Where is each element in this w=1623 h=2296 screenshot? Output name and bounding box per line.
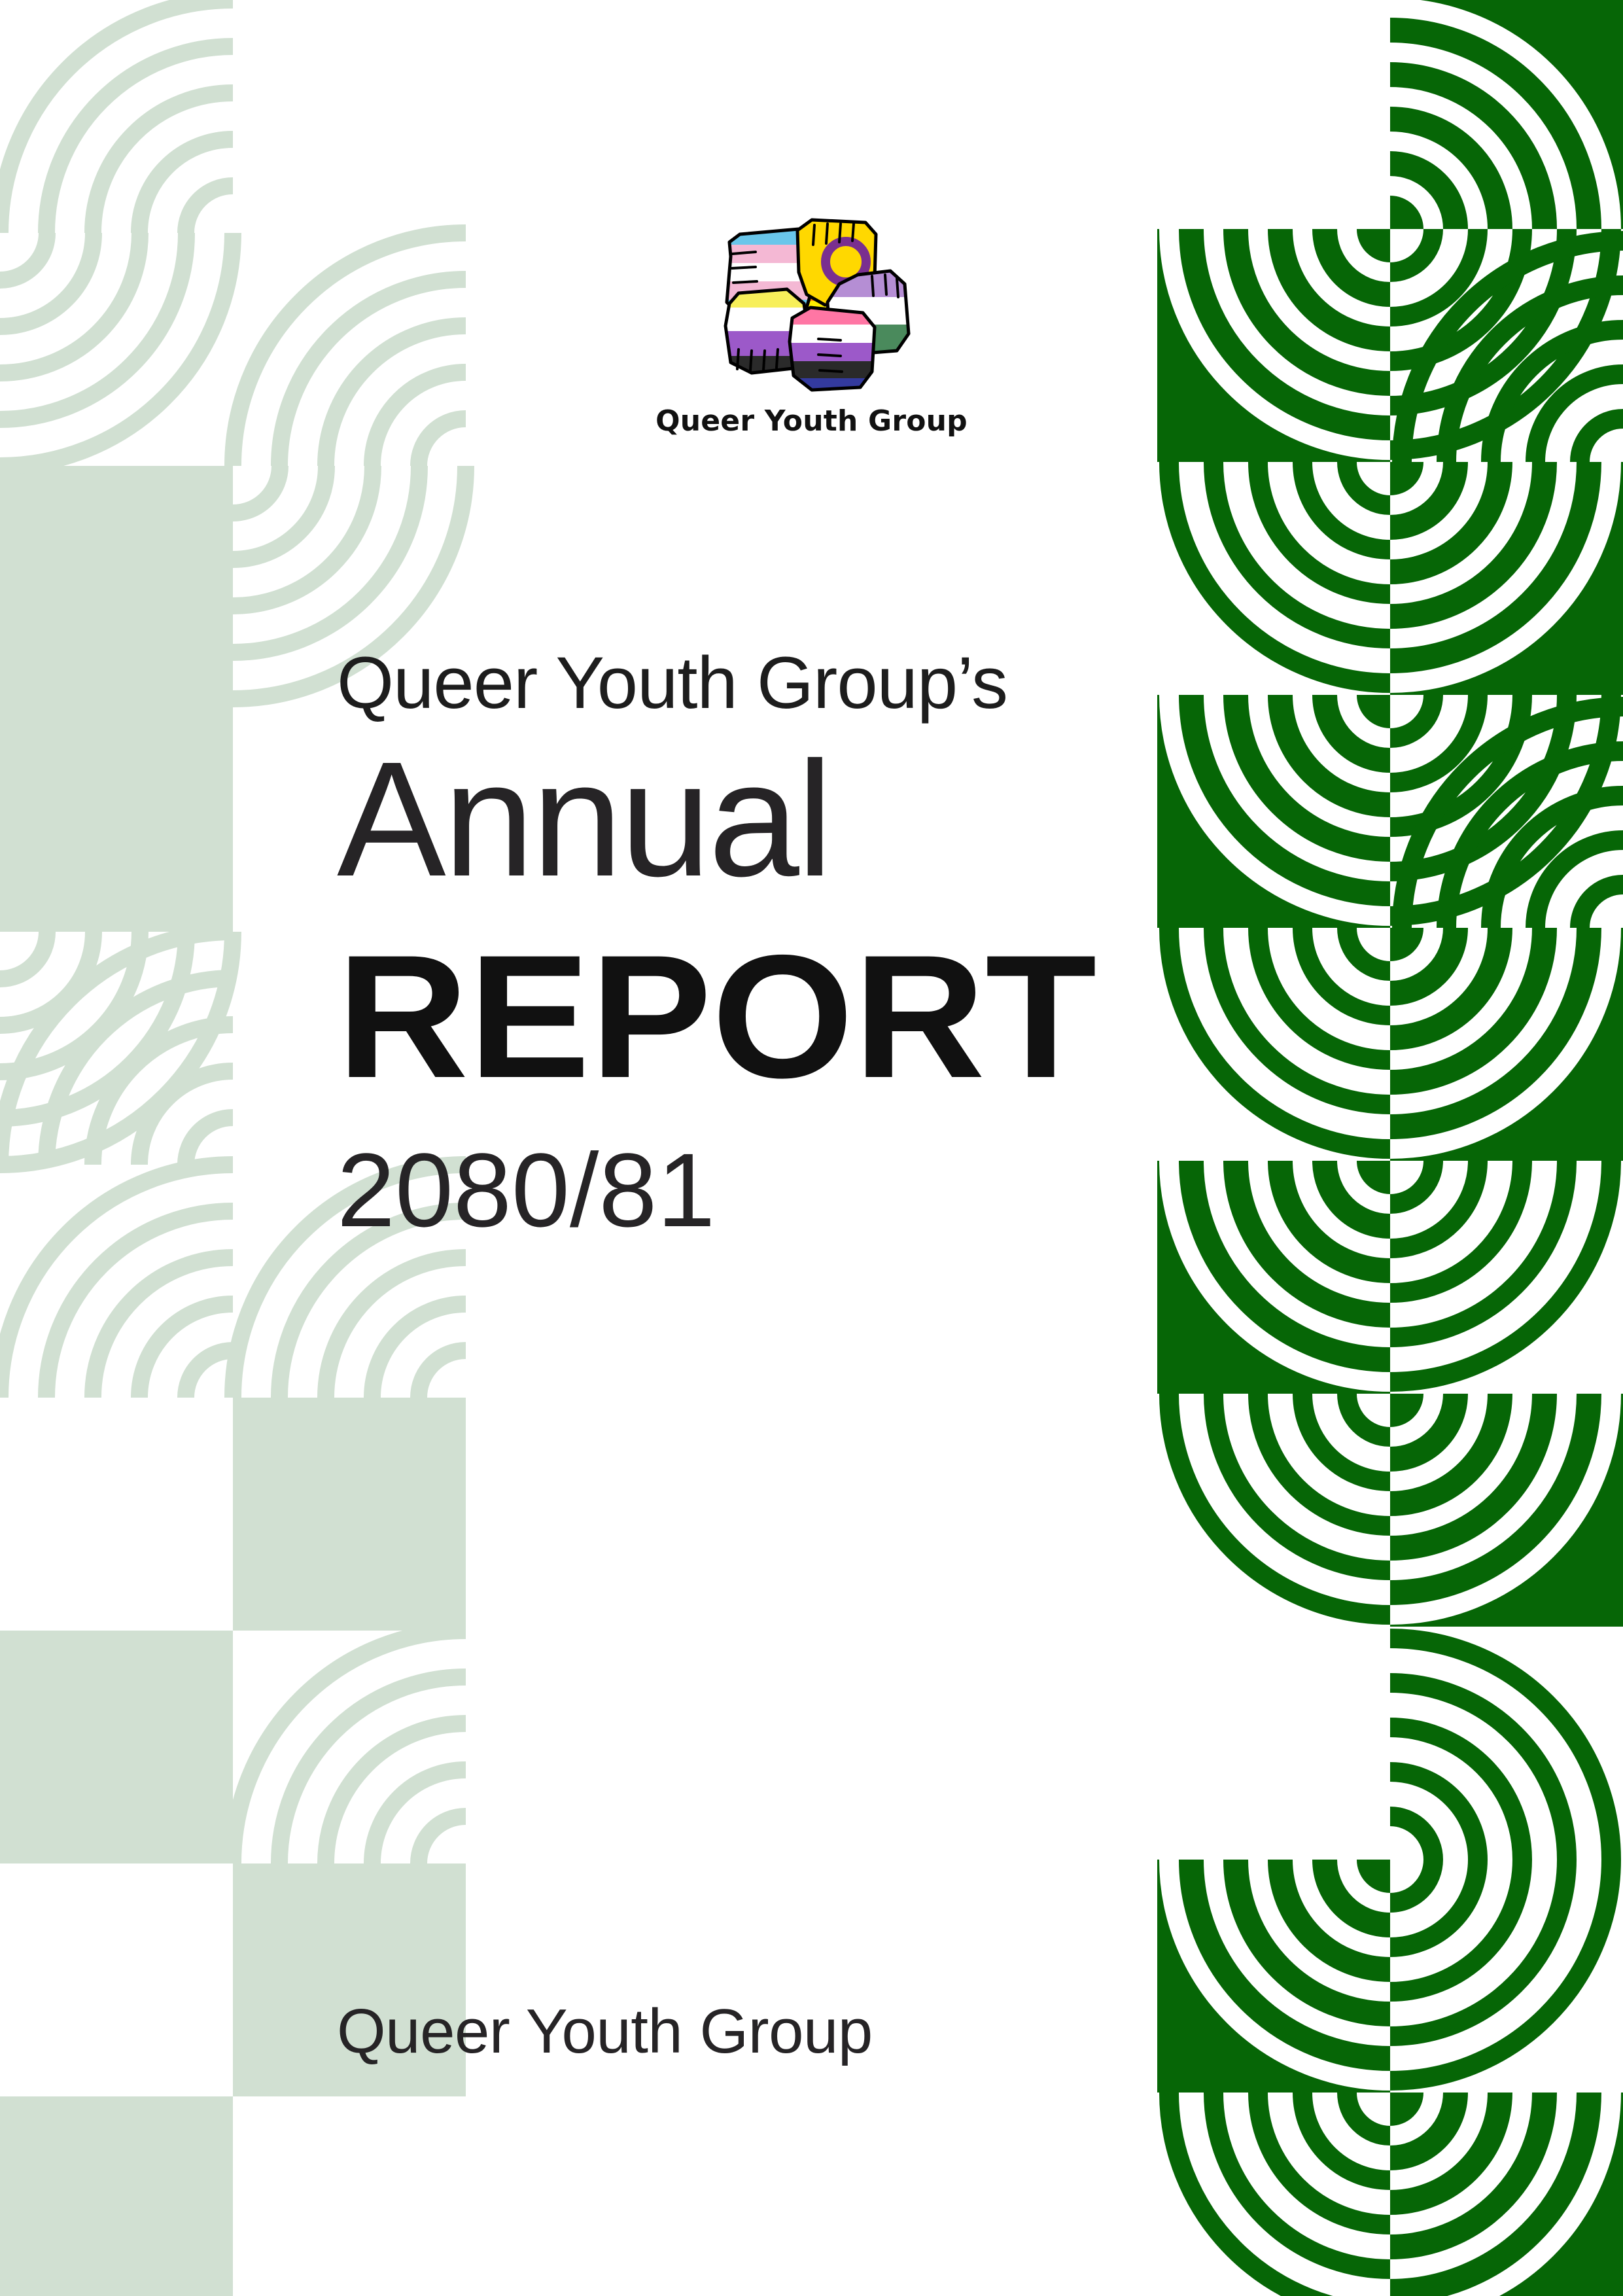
report-headline-annual: Annual <box>337 735 1292 902</box>
footer-organization: Queer Youth Group <box>337 1996 873 2068</box>
fist-genderfluid-flag <box>782 305 884 395</box>
logo-block: Queer Youth Group <box>0 216 1623 438</box>
report-headline-report: REPORT <box>337 928 1330 1104</box>
title-block: Queer Youth Group’s Annual REPORT 2080/8… <box>337 645 1292 1243</box>
report-cover-page: Queer Youth Group Queer Youth Group’s An… <box>0 0 1623 2296</box>
logo-caption: Queer Youth Group <box>655 404 968 438</box>
report-eyebrow: Queer Youth Group’s <box>337 645 1292 722</box>
report-year: 2080/81 <box>337 1138 1292 1243</box>
pride-fists-pinwheel-logo <box>701 216 923 399</box>
